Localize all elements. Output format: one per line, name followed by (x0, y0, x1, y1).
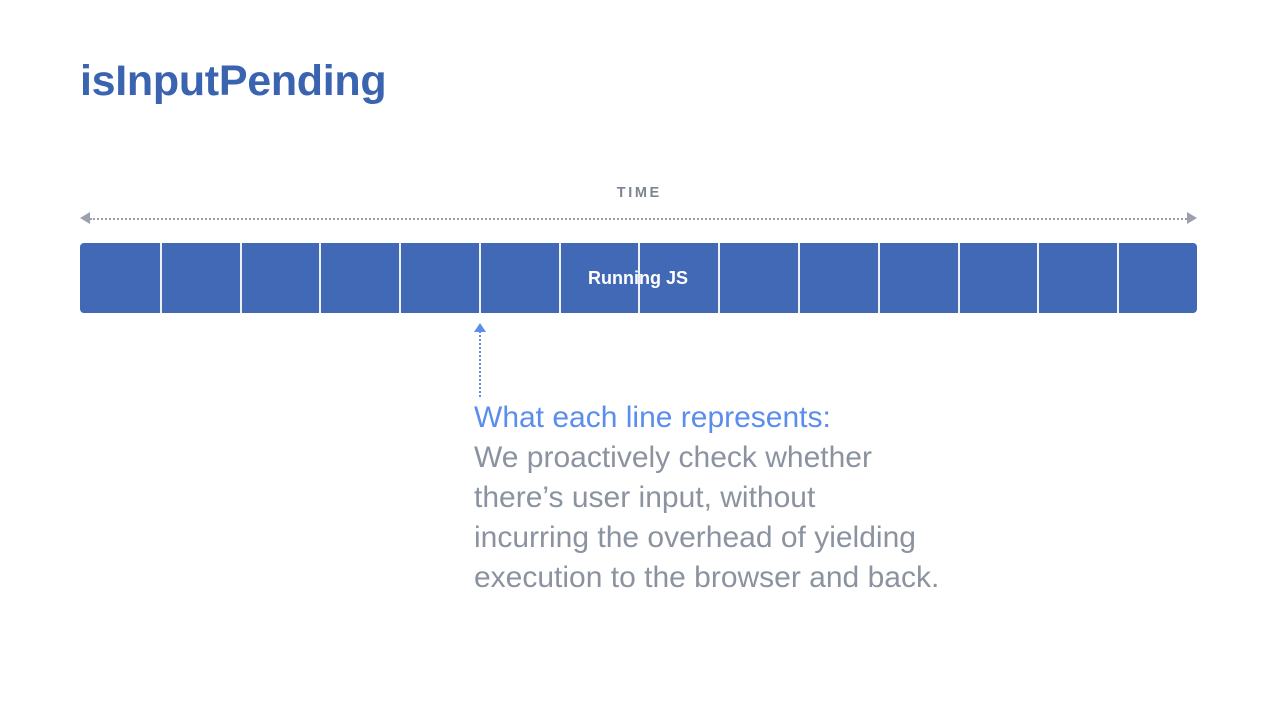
timeline-segment (559, 243, 639, 313)
callout-body-line: execution to the browser and back. (474, 558, 994, 598)
slide-canvas: isInputPending TIME Running JS What each… (0, 0, 1276, 717)
timeline-segment (399, 243, 479, 313)
callout-body-line: We proactively check whether (474, 438, 994, 478)
timeline-segment (1037, 243, 1117, 313)
arrow-left-icon (80, 212, 90, 224)
callout-heading: What each line represents: (474, 398, 994, 438)
timeline-segment (319, 243, 399, 313)
timeline-segment (718, 243, 798, 313)
callout-body-line: there’s user input, without (474, 478, 994, 518)
callout-text-block: What each line represents: We proactivel… (474, 398, 994, 598)
timeline-segment (878, 243, 958, 313)
time-axis (80, 212, 1197, 225)
callout-body: We proactively check whetherthere’s user… (474, 438, 994, 598)
timeline-segment (479, 243, 559, 313)
timeline-segment (1117, 243, 1197, 313)
callout-body-line: incurring the overhead of yielding (474, 518, 994, 558)
timeline-segment (240, 243, 320, 313)
axis-dotted-line (90, 218, 1187, 220)
timeline-segment (80, 243, 160, 313)
pointer-dotted-stem (479, 331, 481, 397)
timeline-bar (80, 243, 1197, 313)
page-title: isInputPending (80, 58, 386, 105)
timeline-segment (798, 243, 878, 313)
time-axis-label: TIME (0, 185, 1276, 201)
timeline-segment (160, 243, 240, 313)
arrow-right-icon (1187, 212, 1197, 224)
timeline-segment (638, 243, 718, 313)
callout-pointer (474, 323, 486, 397)
timeline-segment (958, 243, 1038, 313)
